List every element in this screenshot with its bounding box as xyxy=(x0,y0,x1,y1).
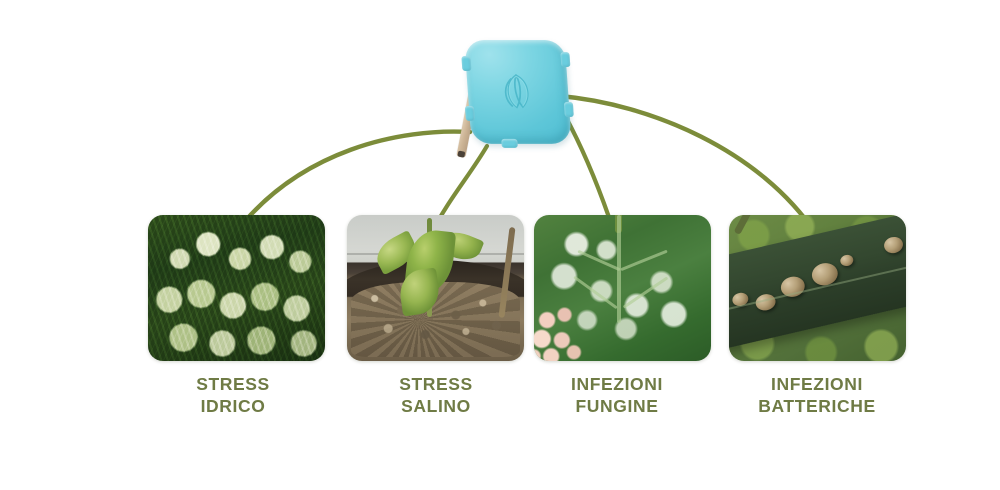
leaf-vein xyxy=(578,250,621,271)
leaf-sensor-device[interactable] xyxy=(452,34,568,152)
label-line-1: INFEZIONI xyxy=(712,373,922,395)
card-infezioni-batteriche[interactable] xyxy=(729,215,906,361)
leaf-logo-icon xyxy=(493,70,544,112)
label-line-2: FUNGINE xyxy=(512,395,722,417)
leaf-stalk xyxy=(733,215,753,235)
potted-seedling-photo xyxy=(347,215,524,361)
bacterial-gall xyxy=(810,261,840,288)
label-stress-salino: STRESS SALINO xyxy=(331,373,541,418)
sensor-body[interactable] xyxy=(464,40,571,144)
label-line-2: BATTERICHE xyxy=(712,395,922,417)
label-line-1: INFEZIONI xyxy=(512,373,722,395)
leaf-vein xyxy=(623,276,669,308)
sensor-clip-right-bottom xyxy=(564,102,574,117)
connector-stem-4 xyxy=(560,96,816,234)
card-stress-salino[interactable] xyxy=(347,215,524,361)
label-infezioni-batteriche: INFEZIONI BATTERICHE xyxy=(712,373,922,418)
fungal-leaf-spots-photo xyxy=(534,215,711,361)
wilted-foliage-photo xyxy=(148,215,325,361)
bacterial-gall xyxy=(839,254,854,268)
pink-flower-cluster xyxy=(534,300,594,361)
leaf-vein xyxy=(620,250,667,271)
sensor-clip-left-bottom xyxy=(465,106,475,121)
leaf-blade xyxy=(729,215,906,349)
label-stress-idrico: STRESS IDRICO xyxy=(128,373,338,418)
label-infezioni-fungine: INFEZIONI FUNGINE xyxy=(512,373,722,418)
label-line-1: STRESS xyxy=(331,373,541,395)
sensor-clip-left-top xyxy=(461,56,471,71)
sensor-clip-bottom xyxy=(501,139,518,148)
bacterial-gall xyxy=(754,293,777,313)
sensor-clip-right-top xyxy=(560,52,570,67)
label-line-2: SALINO xyxy=(331,395,541,417)
card-stress-idrico[interactable] xyxy=(148,215,325,361)
infographic-canvas: STRESS IDRICO STRESS SALINO xyxy=(0,0,1000,490)
label-line-1: STRESS xyxy=(128,373,338,395)
card-infezioni-fungine[interactable] xyxy=(534,215,711,361)
bacterial-gall xyxy=(731,292,750,308)
bacterial-gall xyxy=(779,275,807,300)
bacterial-gall xyxy=(882,235,904,255)
label-line-2: IDRICO xyxy=(128,395,338,417)
bacterial-galls-photo xyxy=(729,215,906,361)
